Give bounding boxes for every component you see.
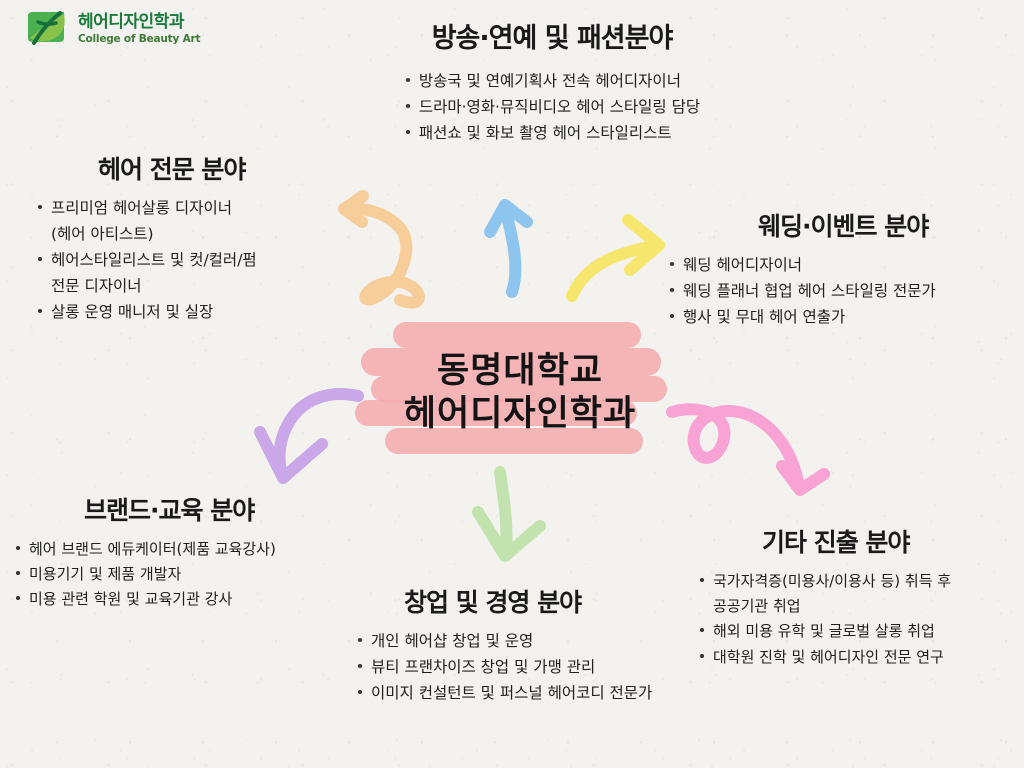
section-brand-education-title: 브랜드·교육 분야 bbox=[72, 496, 266, 527]
section-hair-specialist-items: 프리미엄 헤어살롱 디자이너 (헤어 아티스트) 헤어스타일리스트 및 컷/컬러… bbox=[36, 196, 366, 326]
list-item: 국가자격증(미용사/이용사 등) 취득 후 bbox=[698, 569, 1024, 593]
section-wedding-event-title: 웨딩·이벤트 분야 bbox=[746, 212, 940, 243]
list-item-continuation: (헤어 아티스트) bbox=[36, 222, 366, 247]
arrow-to-startup-management-icon bbox=[478, 472, 540, 556]
center-title-line2: 헤어디자인학과 bbox=[404, 393, 636, 436]
section-broadcast-items: 방송국 및 연예기획사 전속 헤어디자이너 드라마·영화·뮤직비디오 헤어 스타… bbox=[404, 69, 700, 147]
section-broadcast: 방송·연예 및 패션분야 방송국 및 연예기획사 전속 헤어디자이너 드라마·영… bbox=[352, 22, 752, 147]
list-item: 웨딩 플래너 협업 헤어 스타일링 전문가 bbox=[668, 279, 1024, 304]
list-item: 방송국 및 연예기획사 전속 헤어디자이너 bbox=[404, 69, 700, 94]
list-item: 드라마·영화·뮤직비디오 헤어 스타일링 담당 bbox=[404, 95, 700, 120]
list-item: 프리미엄 헤어살롱 디자이너 bbox=[36, 196, 366, 221]
section-startup-management-title: 창업 및 경영 분야 bbox=[392, 588, 593, 619]
list-item: 해외 미용 유학 및 글로벌 살롱 취업 bbox=[698, 619, 1024, 643]
arrow-to-brand-education-icon bbox=[260, 394, 358, 478]
arrow-to-wedding-event-icon bbox=[572, 220, 659, 296]
logo-english-name: College of Beauty Art bbox=[78, 34, 200, 45]
list-item-continuation: 공공기관 취업 bbox=[698, 594, 1024, 618]
arrow-to-other-paths-icon bbox=[672, 409, 824, 490]
section-broadcast-title: 방송·연예 및 패션분야 bbox=[420, 22, 685, 55]
arrow-to-broadcast-icon bbox=[490, 205, 527, 292]
section-other-paths-title: 기타 진출 분야 bbox=[750, 528, 921, 559]
department-logo: 헤어디자인학과 College of Beauty Art bbox=[24, 8, 200, 50]
list-item-continuation: 전문 디자이너 bbox=[36, 274, 366, 299]
section-other-paths-items: 국가자격증(미용사/이용사 등) 취득 후 공공기관 취업 해외 미용 유학 및… bbox=[698, 569, 1024, 669]
list-item: 패션쇼 및 화보 촬영 헤어 스타일리스트 bbox=[404, 121, 700, 146]
list-item: 헤어 브랜드 에듀케이터(제품 교육강사) bbox=[14, 537, 394, 561]
list-item: 행사 및 무대 헤어 연출가 bbox=[668, 305, 1024, 330]
logo-korean-name: 헤어디자인학과 bbox=[78, 14, 200, 31]
list-item: 미용기기 및 제품 개발자 bbox=[14, 562, 394, 586]
section-other-paths: 기타 진출 분야 국가자격증(미용사/이용사 등) 취득 후 공공기관 취업 해… bbox=[688, 528, 1024, 670]
section-hair-specialist-title: 헤어 전문 분야 bbox=[86, 155, 257, 186]
center-title-block: 동명대학교 헤어디자인학과 bbox=[355, 318, 685, 468]
list-item: 웨딩 헤어디자이너 bbox=[668, 253, 1024, 278]
list-item: 살롱 운영 매니저 및 실장 bbox=[36, 300, 366, 325]
center-title-line1: 동명대학교 bbox=[437, 350, 603, 393]
section-hair-specialist: 헤어 전문 분야 프리미엄 헤어살롱 디자이너 (헤어 아티스트) 헤어스타일리… bbox=[36, 155, 366, 326]
list-item: 이미지 컨설턴트 및 퍼스널 헤어코디 전문가 bbox=[356, 681, 756, 706]
list-item: 대학원 진학 및 헤어디자인 전문 연구 bbox=[698, 645, 1024, 669]
list-item: 헤어스타일리스트 및 컷/컬러/펌 bbox=[36, 248, 366, 273]
section-wedding-event: 웨딩·이벤트 분야 웨딩 헤어디자이너 웨딩 플래너 협업 헤어 스타일링 전문… bbox=[668, 212, 1024, 331]
page-title: 동명대학교 헤어디자인학과 bbox=[355, 318, 685, 468]
leaf-logo-icon bbox=[24, 8, 70, 50]
section-wedding-event-items: 웨딩 헤어디자이너 웨딩 플래너 협업 헤어 스타일링 전문가 행사 및 무대 … bbox=[668, 253, 1024, 330]
